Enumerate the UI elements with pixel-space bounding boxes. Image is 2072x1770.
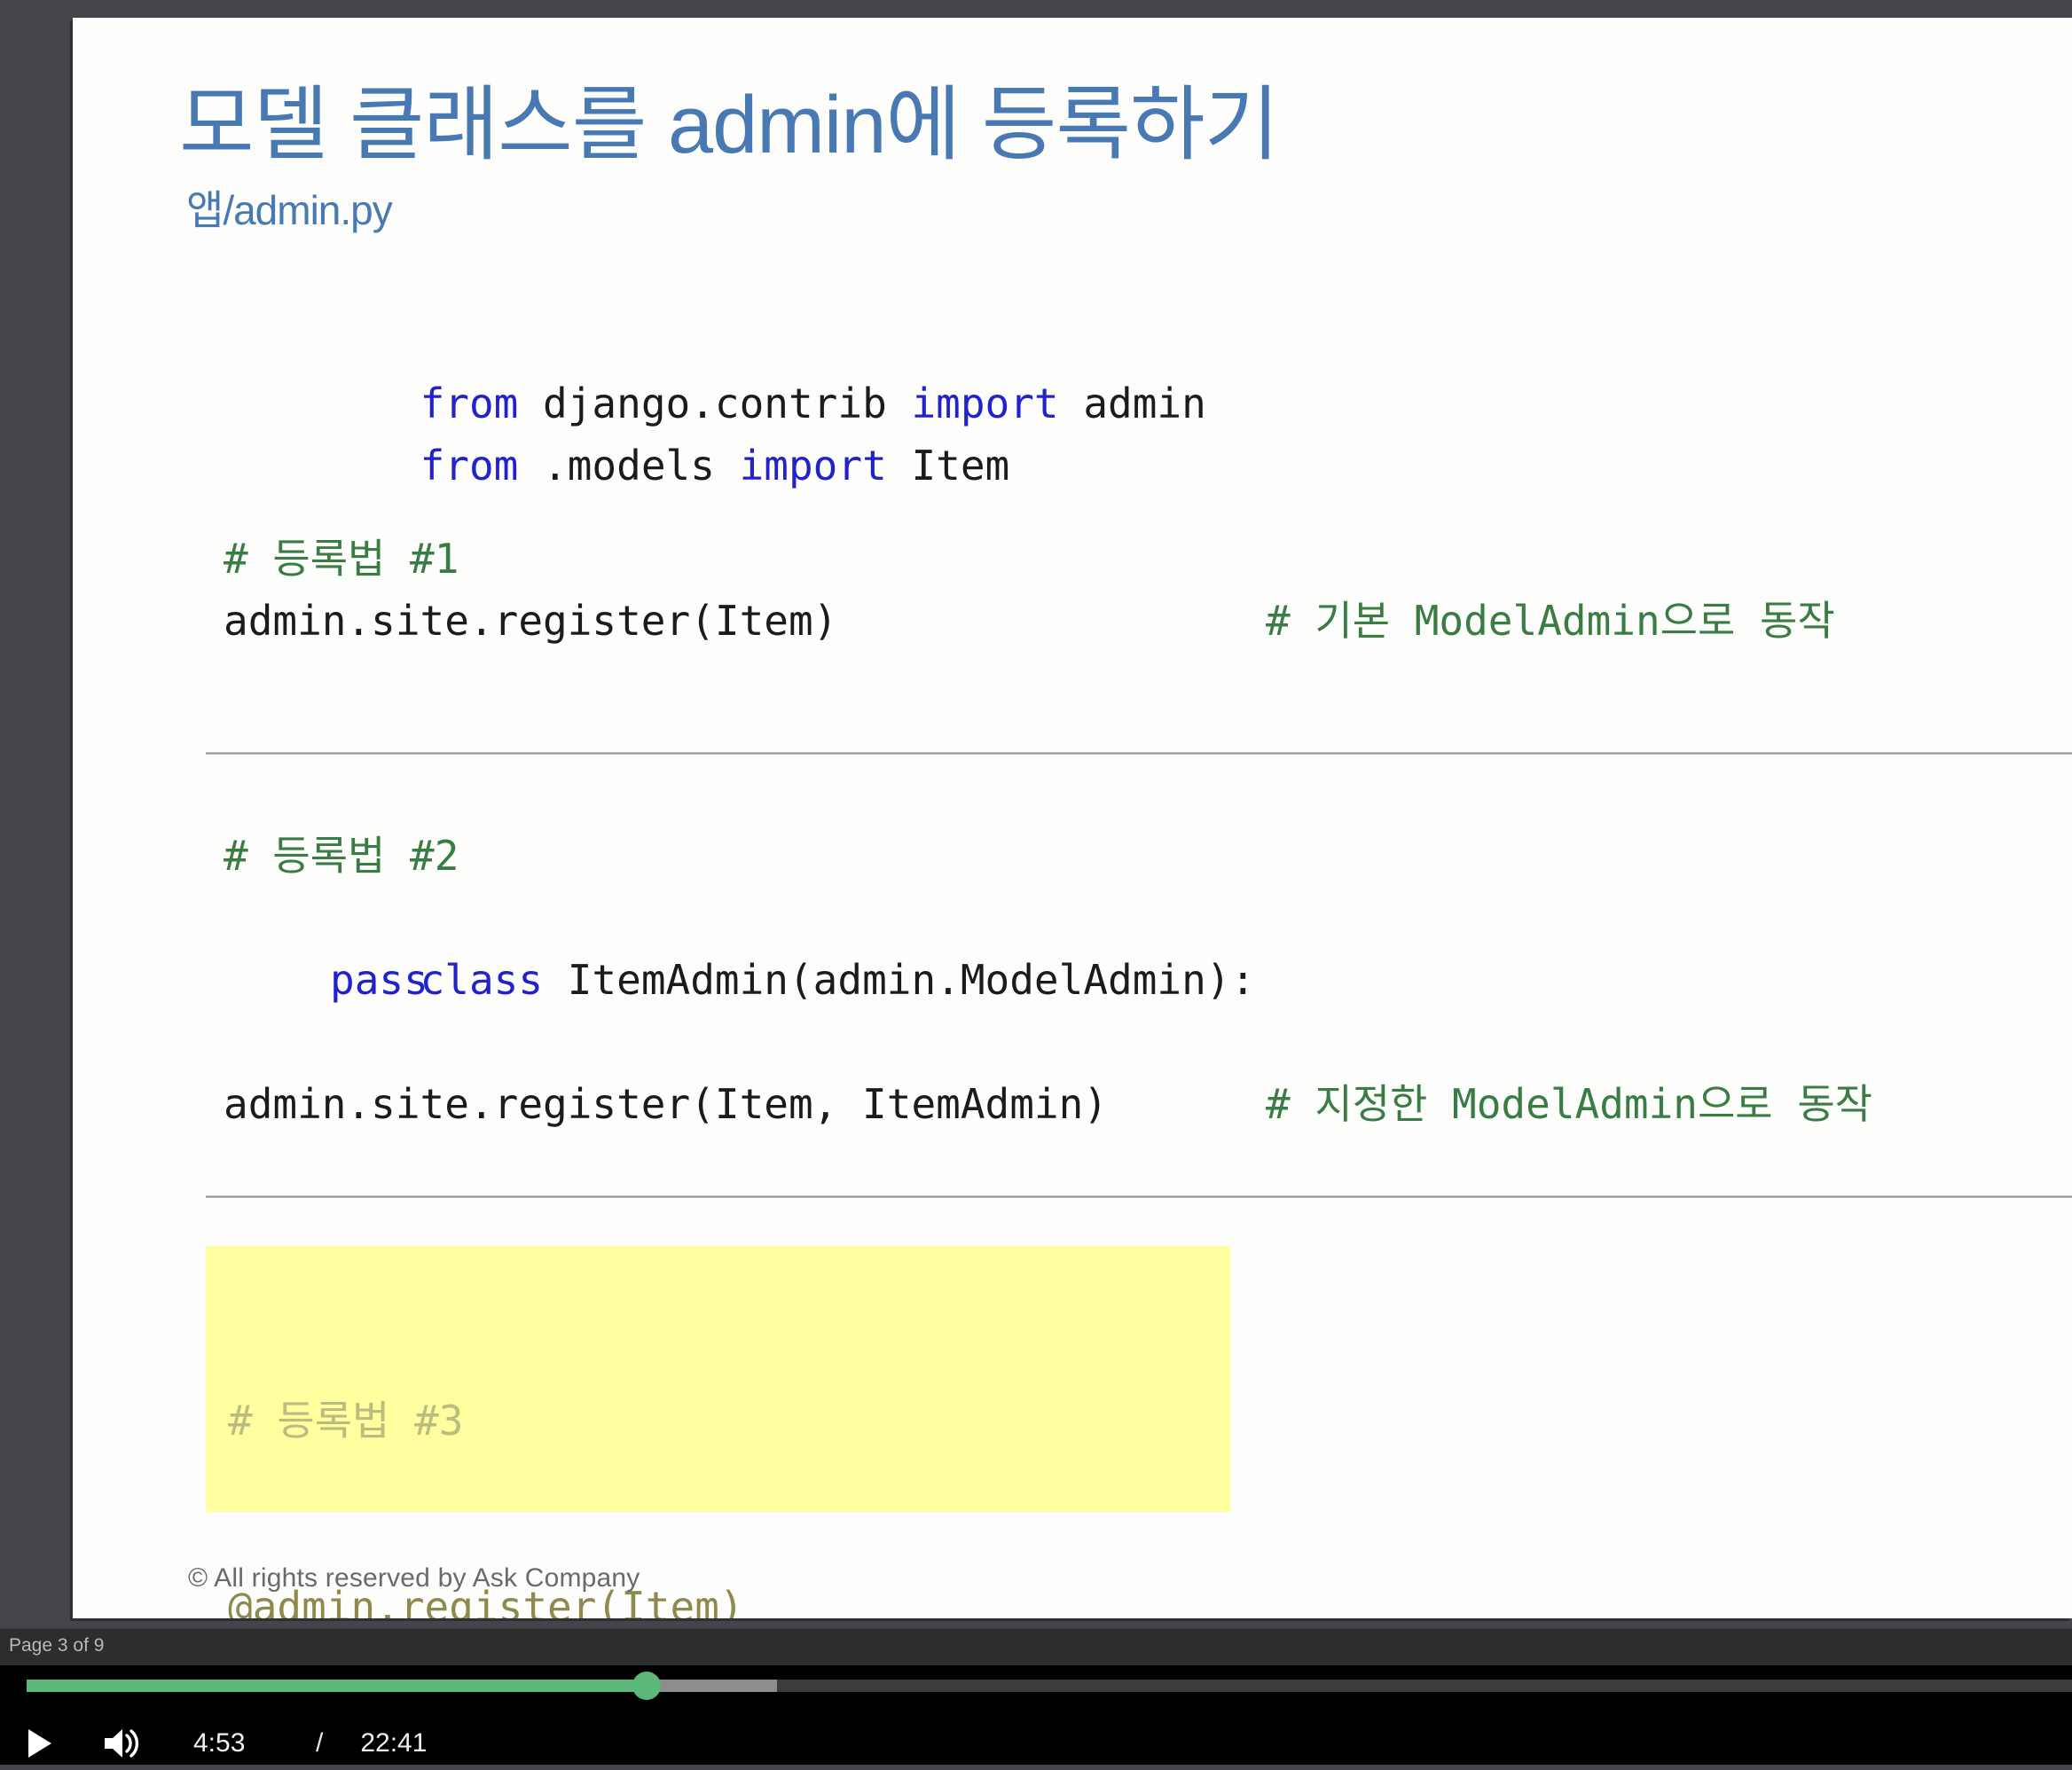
section-divider-1: [206, 752, 2072, 755]
total-time: 22:41: [360, 1728, 458, 1758]
keyword-class: class: [420, 956, 543, 1004]
play-button[interactable]: [11, 1717, 69, 1770]
side-comment-method-1: # 기본 ModelAdmin으로 동작: [1266, 590, 1835, 652]
page-indicator-bar: Page 3 of 9: [0, 1628, 2072, 1665]
progress-played: [27, 1680, 647, 1692]
side-comment-method-2: # 지정한 ModelAdmin으로 동작: [1266, 1073, 1872, 1135]
code-line-register-simple: admin.site.register(Item): [224, 590, 837, 652]
scrubber-handle[interactable]: [632, 1672, 661, 1700]
highlighted-code-block: # 등록법 #3 @admin.register(Item) class Ite…: [206, 1246, 1230, 1512]
slide-header: 모델 클래스를 admin에 등록하기 앱/admin.py: [179, 84, 1278, 237]
keyword-import-2: import: [740, 442, 887, 489]
keyword-from-2: from: [420, 442, 519, 489]
volume-icon: [101, 1726, 142, 1761]
page-indicator-label: Page 3 of 9: [9, 1635, 104, 1656]
play-icon: [28, 1729, 51, 1758]
module-dot-models: .models: [518, 442, 739, 489]
copyright-footer: © All rights reserved by Ask Company: [188, 1563, 640, 1594]
comment-method-1: # 등록법 #1: [224, 528, 459, 590]
section-divider-2: [206, 1195, 2072, 1198]
current-time: 4:53: [193, 1728, 279, 1758]
page-title: 모델 클래스를 admin에 등록하기: [179, 84, 1278, 166]
time-display: 4:53 / 22:41: [193, 1728, 458, 1758]
presentation-slide: 모델 클래스를 admin에 등록하기 앱/admin.py from djan…: [73, 18, 2072, 1618]
player-control-bar: 4:53 / 22:41: [0, 1665, 2072, 1765]
slide-subtitle: 앱/admin.py: [186, 178, 1278, 237]
class-signature: ItemAdmin(admin.ModelAdmin):: [543, 956, 1255, 1004]
progress-scrubber[interactable]: [27, 1680, 2072, 1692]
video-player-viewer: 모델 클래스를 admin에 등록하기 앱/admin.py from djan…: [0, 0, 2072, 1765]
comment-method-2: # 등록법 #2: [224, 825, 459, 887]
imported-name-admin: admin: [1059, 380, 1206, 427]
keyword-pass: pass: [330, 949, 428, 1011]
imported-name-item: Item: [887, 442, 1009, 489]
transport-controls: 4:53 / 22:41: [0, 1717, 2072, 1770]
comment-method-3: # 등록법 #3: [228, 1390, 1063, 1452]
code-line-register-with-admin: admin.site.register(Item, ItemAdmin): [224, 1073, 1108, 1135]
time-separator: /: [316, 1728, 323, 1758]
volume-button[interactable]: [90, 1717, 153, 1770]
